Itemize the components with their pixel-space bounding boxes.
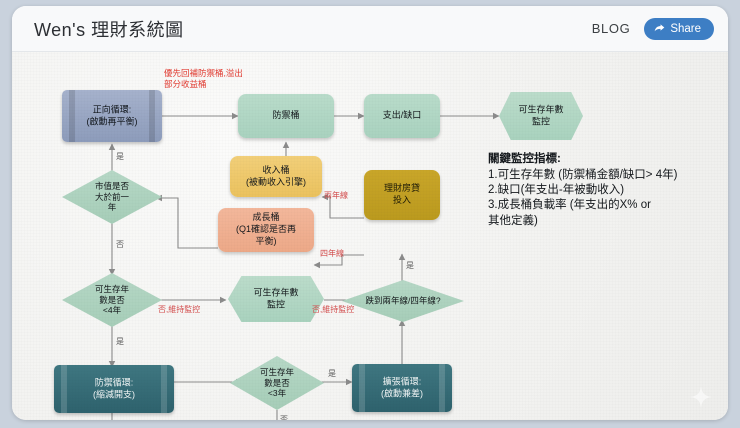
blog-link[interactable]: BLOG [592, 21, 631, 36]
share-arrow-icon [654, 23, 665, 34]
page-title: Wen's 理財系統圖 [34, 16, 184, 42]
node-label: 防禦循環: (縮減開支) [54, 377, 174, 400]
header-actions: BLOG Share [592, 18, 714, 40]
node-line-break-question[interactable]: 跌到兩年線/四年線? [342, 280, 464, 322]
key-metric-item-3: 3.成長桶負載率 (年支出的X% or 其他定義) [488, 198, 728, 228]
key-metrics-title: 關鍵監控指標: [488, 150, 728, 166]
edge-growth-to-marketvalue [156, 198, 218, 248]
node-label: 防禦桶 [272, 110, 299, 122]
edge-label-yes-survival-lt3: 是 [328, 368, 336, 379]
node-survival-monitor-mid[interactable]: 可生存年數 監控 [228, 276, 324, 322]
node-label: 可生存年 數是否 <4年 [62, 284, 162, 316]
node-label: 跌到兩年線/四年線? [342, 296, 464, 307]
edge-label-no-market-value: 否 [116, 239, 124, 250]
node-label: 收入桶 (被動收入引擎) [246, 165, 306, 188]
node-label: 正向循環: (啟動再平衡) [62, 104, 162, 127]
node-growth-bucket[interactable]: 成長桶 (Q1確認是否再 平衡) [218, 208, 314, 252]
sparkle-watermark-icon [690, 386, 712, 408]
node-label: 可生存年 數是否 <3年 [230, 367, 324, 399]
edge-label-no-keep-monitor-2: 否,維持監控 [312, 304, 354, 315]
node-market-value-question[interactable]: 市值是否 大於前一 年 [62, 170, 162, 224]
edge-label-yes-survival-lt4: 是 [116, 336, 124, 347]
diagram-page: Wen's 理財系統圖 BLOG Share [12, 6, 728, 420]
node-income-bucket[interactable]: 收入桶 (被動收入引擎) [230, 156, 322, 197]
diagram-canvas: 正向循環: (啟動再平衡) 防禦桶 支出/缺口 可生存年數 監控 收入桶 (被動… [12, 52, 728, 420]
node-label: 擴張循環: (啟動兼差) [352, 376, 452, 399]
edge-label-no-keep-monitor-1: 否,維持監控 [158, 304, 200, 315]
share-button[interactable]: Share [644, 18, 714, 40]
node-survival-lt3-question[interactable]: 可生存年 數是否 <3年 [230, 356, 324, 410]
node-mortgage-invest[interactable]: 理財房貸 投入 [364, 170, 440, 220]
node-label: 可生存年數 監控 [228, 287, 324, 310]
node-label: 支出/缺口 [383, 110, 422, 122]
share-button-label: Share [670, 23, 701, 35]
key-metric-item-2: 2.缺口(年支出-年被動收入) [488, 183, 728, 198]
edge-label-yes-to-positive: 是 [116, 151, 124, 162]
edge-label-four-year-line: 四年線 [320, 248, 344, 259]
node-label: 可生存年數 監控 [499, 104, 583, 127]
node-expense-gap[interactable]: 支出/缺口 [364, 94, 440, 138]
annotation-refill-note: 優先回補防禦桶,溢出 部分收益桶 [164, 68, 243, 91]
node-defense-cycle[interactable]: 防禦循環: (縮減開支) [54, 365, 174, 413]
node-label: 理財房貸 投入 [384, 183, 420, 206]
key-metrics-panel: 關鍵監控指標: 1.可生存年數 (防禦桶金額/缺口> 4年) 2.缺口(年支出-… [488, 150, 728, 229]
node-defense-bucket[interactable]: 防禦桶 [238, 94, 334, 138]
edge-label-no-survival-lt3: 否 [280, 414, 288, 420]
edge-label-yes-line-break: 是 [406, 260, 414, 271]
node-label: 成長桶 (Q1確認是否再 平衡) [236, 212, 296, 247]
edge-label-two-year-line: 兩年線 [324, 190, 348, 201]
key-metric-item-1: 1.可生存年數 (防禦桶金額/缺口> 4年) [488, 168, 728, 183]
node-label: 市值是否 大於前一 年 [62, 181, 162, 213]
node-survival-lt4-question[interactable]: 可生存年 數是否 <4年 [62, 273, 162, 327]
node-positive-cycle[interactable]: 正向循環: (啟動再平衡) [62, 90, 162, 142]
node-survival-monitor-top[interactable]: 可生存年數 監控 [499, 92, 583, 140]
node-expansion-cycle[interactable]: 擴張循環: (啟動兼差) [352, 364, 452, 412]
page-header: Wen's 理財系統圖 BLOG Share [12, 6, 728, 52]
